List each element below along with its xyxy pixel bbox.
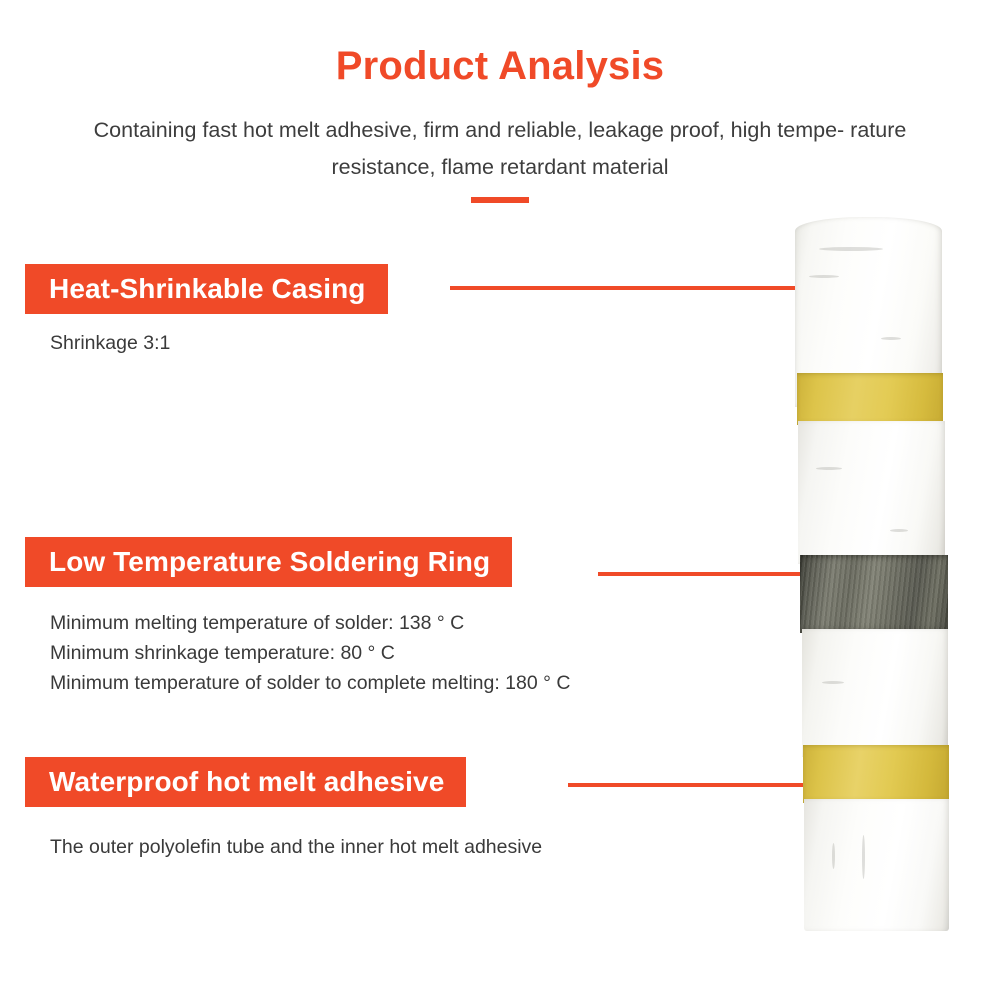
tube-part-heat-shrinkable-casing-mid bbox=[798, 421, 945, 564]
tube-part-heat-shrinkable-casing-bottom bbox=[804, 799, 949, 931]
callout-body-low-temperature-soldering-ring: Minimum melting temperature of solder: 1… bbox=[50, 608, 570, 698]
callout-body-heat-shrinkable-casing: Shrinkage 3:1 bbox=[50, 328, 170, 358]
tube-part-hot-melt-adhesive-band-upper bbox=[797, 373, 943, 425]
tube-part-low-temperature-solder-ring bbox=[800, 555, 948, 633]
page-title: Product Analysis bbox=[0, 44, 1000, 89]
page-subtitle: Containing fast hot melt adhesive, firm … bbox=[50, 112, 950, 186]
callout-body-waterproof-hot-melt-adhesive: The outer polyolefin tube and the inner … bbox=[50, 832, 542, 862]
callout-label-low-temperature-soldering-ring: Low Temperature Soldering Ring bbox=[25, 537, 512, 587]
tube-part-hot-melt-adhesive-band-lower bbox=[803, 745, 949, 803]
callout-label-waterproof-hot-melt-adhesive: Waterproof hot melt adhesive bbox=[25, 757, 466, 807]
callout-label-heat-shrinkable-casing: Heat-Shrinkable Casing bbox=[25, 264, 388, 314]
tube-part-heat-shrinkable-casing-lower bbox=[802, 629, 948, 757]
product-photo-solder-seal-connector bbox=[770, 205, 970, 945]
accent-divider-bar bbox=[471, 197, 529, 203]
